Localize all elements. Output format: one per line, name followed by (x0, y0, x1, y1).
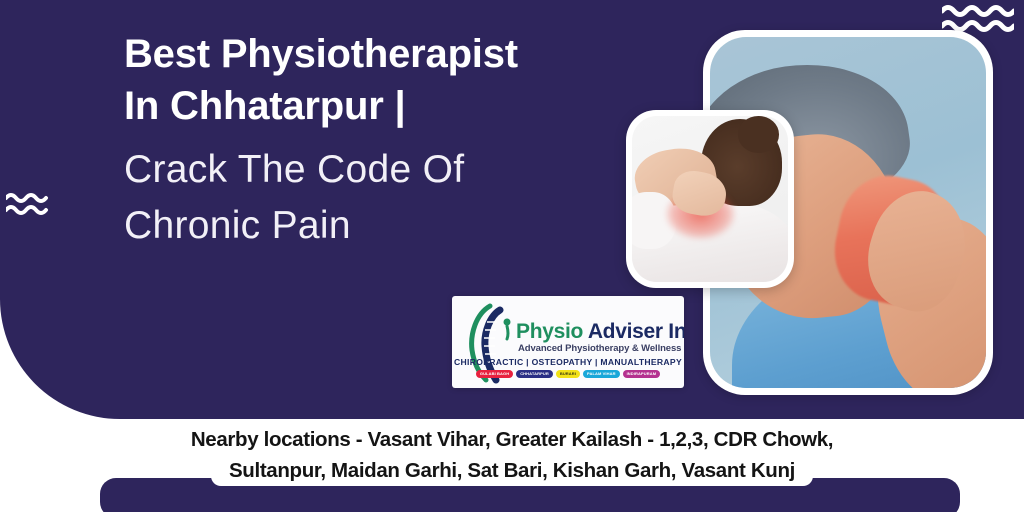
headline-block: Best Physiotherapist In Chhatarpur | Cra… (124, 28, 684, 254)
inset-shape-bun (738, 116, 779, 153)
banner-canvas: Best Physiotherapist In Chhatarpur | Cra… (0, 0, 1024, 512)
inset-photo-card (626, 110, 794, 288)
headline-line-1: Best Physiotherapist (124, 28, 684, 80)
nearby-line-1: Nearby locations - Vasant Vihar, Greater… (0, 424, 1024, 455)
location-badge: BURARI (556, 370, 580, 378)
location-badge: GULABI BAGH (476, 370, 513, 378)
headline-line-3: Crack The Code Of (124, 142, 684, 198)
logo-brand-navy: Adviser India (588, 320, 684, 343)
nearby-line-2: Sultanpur, Maidan Garhi, Sat Bari, Kisha… (211, 455, 813, 486)
wave-lines-icon (6, 192, 52, 216)
logo-tagline: Advanced Physiotherapy & Wellness Clinic (518, 343, 684, 354)
logo-services: CHIROPRACTIC | OSTEOPATHY | MANUALTHERAP… (452, 357, 684, 367)
logo-brand-green: Physio (516, 320, 588, 343)
logo-brand-name: Physio Adviser India (516, 320, 684, 344)
headline-line-4: Chronic Pain (124, 198, 684, 254)
logo-location-badges: GULABI BAGHCHHATARPURBURARIPALAM VIHARIN… (452, 370, 684, 378)
nearby-line-2-wrap: Sultanpur, Maidan Garhi, Sat Bari, Kisha… (0, 455, 1024, 486)
headline-line-2: In Chhatarpur | (124, 80, 684, 132)
inset-photo (632, 116, 788, 282)
clinic-logo[interactable]: Physio Adviser India Advanced Physiother… (452, 296, 684, 388)
location-badge: PALAM VIHAR (583, 370, 620, 378)
nearby-locations: Nearby locations - Vasant Vihar, Greater… (0, 424, 1024, 486)
location-badge: INDIRAPURAM (623, 370, 661, 378)
location-badge: CHHATARPUR (516, 370, 553, 378)
